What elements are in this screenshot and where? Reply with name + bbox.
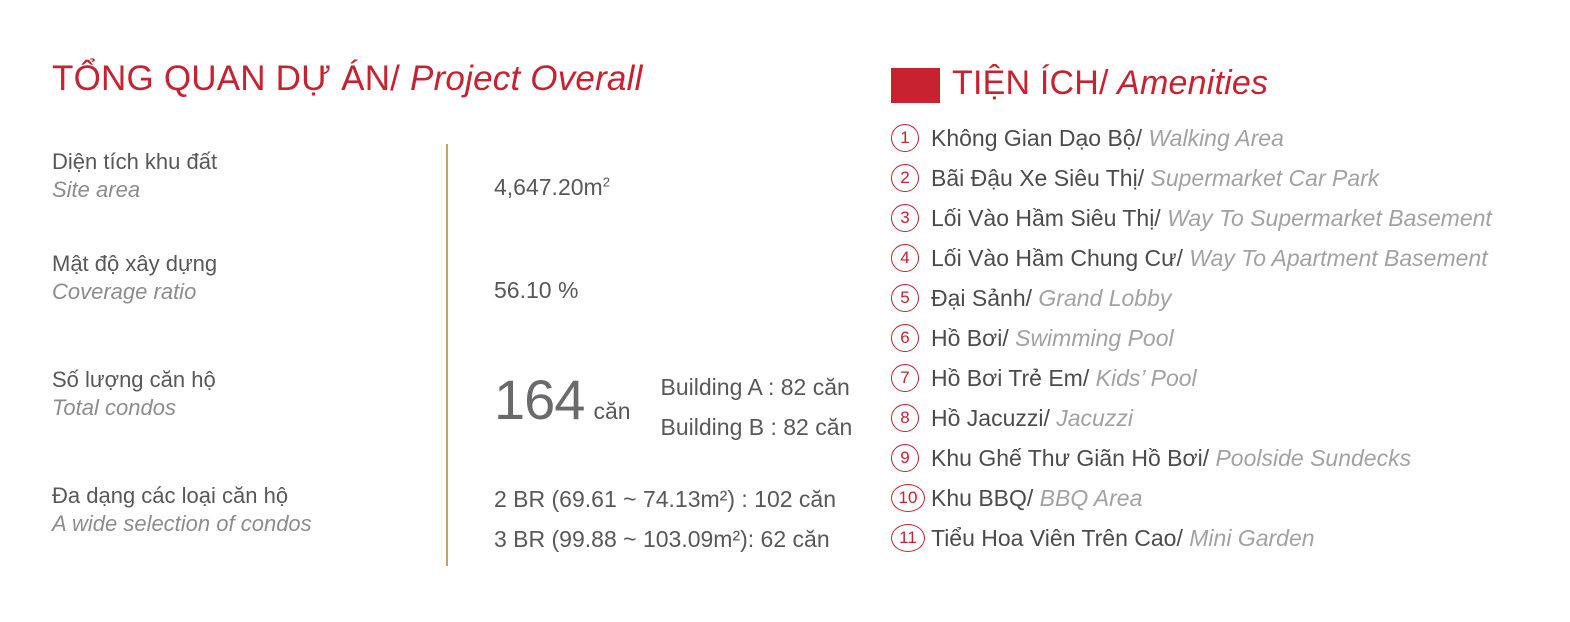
amenity-label-vn: Đại Sảnh/: [931, 285, 1032, 311]
number-badge-icon: 11: [891, 524, 925, 552]
spec-value-site-area: 4,647.20m2: [446, 148, 852, 201]
list-item[interactable]: 1 Không Gian Dạo Bộ/ Walking Area: [891, 118, 1561, 158]
amenity-label-vn: Bãi Đậu Xe Siêu Thị/: [931, 165, 1144, 191]
amenity-label-en: BBQ Area: [1033, 485, 1142, 511]
amenity-label: Hồ Jacuzzi/ Jacuzzi: [931, 405, 1133, 432]
building-b-count: Building B : 82 căn: [661, 408, 853, 448]
spec-value-coverage-ratio: 56.10 %: [446, 250, 852, 304]
condo-type-2br: 2 BR (69.61 ~ 74.13m²) : 102 căn: [494, 480, 852, 520]
spec-row-site-area: Diện tích khu đất Site area 4,647.20m2: [52, 148, 852, 250]
site-area-superscript: 2: [603, 174, 610, 189]
amenity-label: Lối Vào Hầm Chung Cư/ Way To Apartment B…: [931, 245, 1488, 272]
amenity-label-vn: Hồ Bơi Trẻ Em/: [931, 365, 1089, 391]
site-area-value: 4,647.20m: [494, 174, 603, 200]
number-badge-icon: 7: [891, 364, 919, 392]
slide-canvas: TỔNG QUAN DỰ ÁN/ Project Overall Diện tí…: [0, 0, 1570, 622]
building-a-count: Building A : 82 căn: [661, 368, 853, 408]
spec-label-vn: Diện tích khu đất: [52, 148, 432, 176]
amenity-label-vn: Lối Vào Hầm Chung Cư/: [931, 245, 1183, 271]
amenities-header: TIỆN ÍCH/ Amenities: [891, 60, 1561, 108]
amenities-list: 1 Không Gian Dạo Bộ/ Walking Area 2 Bãi …: [891, 118, 1561, 558]
list-item[interactable]: 11 Tiểu Hoa Viên Trên Cao/ Mini Garden: [891, 518, 1561, 558]
spec-label-vn: Số lượng căn hộ: [52, 366, 432, 394]
list-item[interactable]: 10 Khu BBQ/ BBQ Area: [891, 478, 1561, 518]
spec-label-site-area: Diện tích khu đất Site area: [52, 148, 446, 204]
spec-label-vn: Mật độ xây dựng: [52, 250, 432, 278]
list-item[interactable]: 9 Khu Ghế Thư Giãn Hồ Bơi/ Poolside Sund…: [891, 438, 1561, 478]
project-overall-title-en: Project Overall: [400, 59, 642, 98]
spec-table: Diện tích khu đất Site area 4,647.20m2 M…: [52, 148, 852, 559]
list-item[interactable]: 3 Lối Vào Hầm Siêu Thị/ Way To Supermark…: [891, 198, 1561, 238]
amenity-label-en: Grand Lobby: [1032, 285, 1171, 311]
number-badge-icon: 10: [891, 484, 925, 512]
amenity-label-en: Way To Supermarket Basement: [1161, 205, 1492, 231]
total-condos-unit: căn: [593, 398, 630, 425]
spec-label-en: Total condos: [52, 394, 432, 422]
spec-value-total-condos: 164 căn Building A : 82 căn Building B :…: [446, 366, 852, 447]
condo-type-list: 2 BR (69.61 ~ 74.13m²) : 102 căn 3 BR (9…: [494, 480, 852, 559]
amenity-label-en: Supermarket Car Park: [1144, 165, 1379, 191]
amenity-label-vn: Khu BBQ/: [931, 485, 1033, 511]
spec-label-en: Coverage ratio: [52, 278, 432, 306]
list-item[interactable]: 2 Bãi Đậu Xe Siêu Thị/ Supermarket Car P…: [891, 158, 1561, 198]
amenity-label-en: Swimming Pool: [1009, 325, 1174, 351]
amenity-label-en: Kids’ Pool: [1089, 365, 1196, 391]
project-overall-panel: TỔNG QUAN DỰ ÁN/ Project Overall Diện tí…: [52, 60, 852, 580]
amenity-label: Không Gian Dạo Bộ/ Walking Area: [931, 125, 1284, 152]
number-badge-icon: 6: [891, 324, 919, 352]
spec-row-condo-types: Đa dạng các loại căn hộ A wide selection…: [52, 480, 852, 559]
condo-type-3br: 3 BR (99.88 ~ 103.09m²): 62 căn: [494, 520, 852, 560]
amenity-label: Tiểu Hoa Viên Trên Cao/ Mini Garden: [931, 525, 1315, 552]
spec-value-condo-types: 2 BR (69.61 ~ 74.13m²) : 102 căn 3 BR (9…: [446, 480, 852, 559]
spec-label-condo-types: Đa dạng các loại căn hộ A wide selection…: [52, 480, 446, 538]
amenity-label-vn: Khu Ghế Thư Giãn Hồ Bơi/: [931, 445, 1209, 471]
amenity-label-vn: Lối Vào Hầm Siêu Thị/: [931, 205, 1161, 231]
amenities-title-vn: TIỆN ÍCH/: [952, 64, 1109, 102]
spec-label-vn: Đa dạng các loại căn hộ: [52, 482, 432, 510]
list-item[interactable]: 6 Hồ Bơi/ Swimming Pool: [891, 318, 1561, 358]
amenity-label-en: Mini Garden: [1183, 525, 1315, 551]
number-badge-icon: 1: [891, 124, 919, 152]
amenities-title-en: Amenities: [1109, 64, 1268, 102]
amenity-label: Lối Vào Hầm Siêu Thị/ Way To Supermarket…: [931, 205, 1492, 232]
amenity-label-vn: Hồ Jacuzzi/: [931, 405, 1050, 431]
list-item[interactable]: 8 Hồ Jacuzzi/ Jacuzzi: [891, 398, 1561, 438]
total-condos-number: 164: [494, 372, 584, 428]
amenity-label-en: Jacuzzi: [1050, 405, 1133, 431]
amenities-title: TIỆN ÍCH/ Amenities: [952, 65, 1268, 102]
amenity-label: Khu BBQ/ BBQ Area: [931, 485, 1142, 512]
amenity-label-vn: Không Gian Dạo Bộ/: [931, 125, 1142, 151]
project-overall-title-vn: TỔNG QUAN DỰ ÁN/: [52, 59, 400, 98]
project-overall-title: TỔNG QUAN DỰ ÁN/ Project Overall: [52, 60, 852, 99]
spec-label-total-condos: Số lượng căn hộ Total condos: [52, 366, 446, 422]
spec-label-coverage-ratio: Mật độ xây dựng Coverage ratio: [52, 250, 446, 306]
number-badge-icon: 2: [891, 164, 919, 192]
spec-label-en: A wide selection of condos: [52, 510, 432, 538]
amenity-label-en: Poolside Sundecks: [1209, 445, 1411, 471]
amenity-label-vn: Tiểu Hoa Viên Trên Cao/: [931, 525, 1183, 551]
list-item[interactable]: 5 Đại Sảnh/ Grand Lobby: [891, 278, 1561, 318]
building-breakdown-list: Building A : 82 căn Building B : 82 căn: [661, 366, 853, 447]
number-badge-icon: 8: [891, 404, 919, 432]
amenity-label: Hồ Bơi/ Swimming Pool: [931, 325, 1174, 352]
amenity-label: Bãi Đậu Xe Siêu Thị/ Supermarket Car Par…: [931, 165, 1379, 192]
number-badge-icon: 4: [891, 244, 919, 272]
amenities-panel: TIỆN ÍCH/ Amenities 1 Không Gian Dạo Bộ/…: [891, 60, 1561, 558]
number-badge-icon: 3: [891, 204, 919, 232]
number-badge-icon: 9: [891, 444, 919, 472]
list-item[interactable]: 7 Hồ Bơi Trẻ Em/ Kids’ Pool: [891, 358, 1561, 398]
list-item[interactable]: 4 Lối Vào Hầm Chung Cư/ Way To Apartment…: [891, 238, 1561, 278]
spec-row-coverage-ratio: Mật độ xây dựng Coverage ratio 56.10 %: [52, 250, 852, 366]
amenity-label: Khu Ghế Thư Giãn Hồ Bơi/ Poolside Sundec…: [931, 445, 1411, 472]
spec-label-en: Site area: [52, 176, 432, 204]
amenity-label-vn: Hồ Bơi/: [931, 325, 1009, 351]
amenity-label-en: Walking Area: [1142, 125, 1284, 151]
number-badge-icon: 5: [891, 284, 919, 312]
amenity-label: Đại Sảnh/ Grand Lobby: [931, 285, 1171, 312]
amenity-label: Hồ Bơi Trẻ Em/ Kids’ Pool: [931, 365, 1197, 392]
red-square-icon: [891, 68, 940, 103]
spec-row-total-condos: Số lượng căn hộ Total condos 164 căn Bui…: [52, 366, 852, 480]
total-condos-count: 164 căn: [494, 366, 631, 428]
amenity-label-en: Way To Apartment Basement: [1183, 245, 1488, 271]
